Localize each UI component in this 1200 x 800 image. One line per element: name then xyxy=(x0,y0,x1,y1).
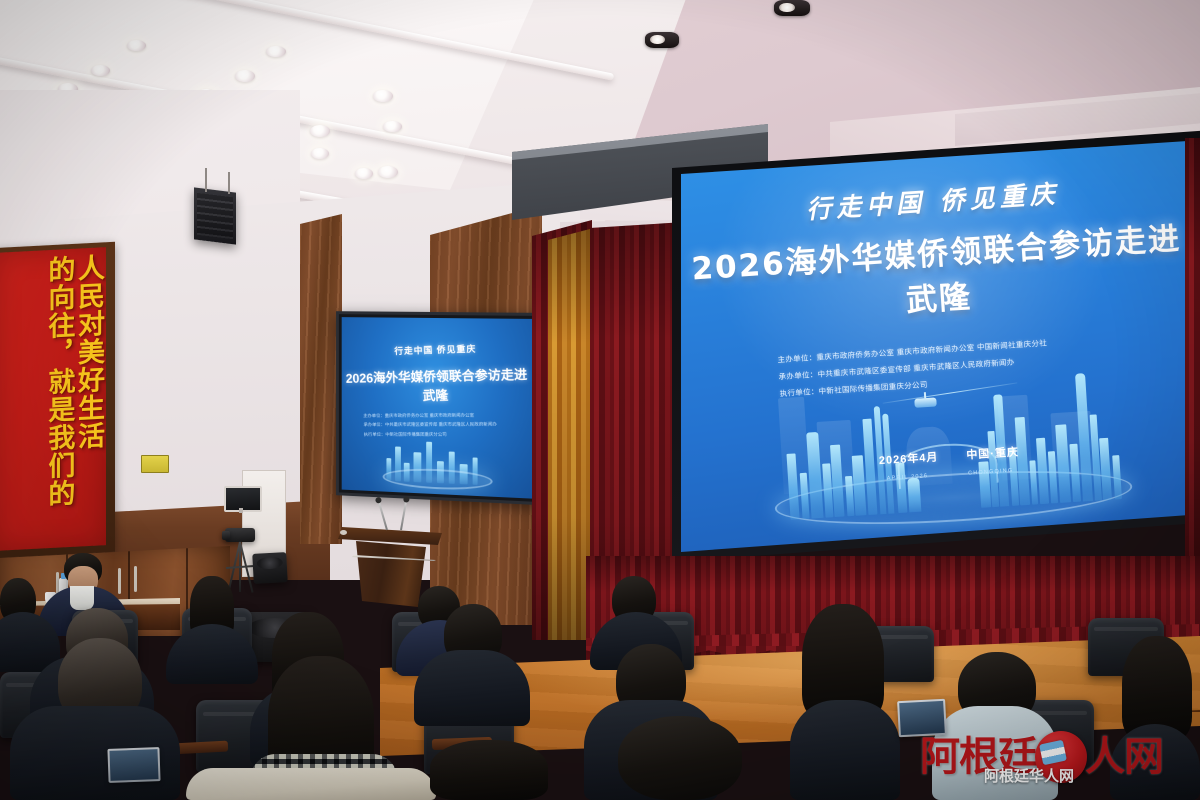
head-table-person-shirt xyxy=(70,586,94,610)
camera-lens-hood xyxy=(222,531,230,540)
ceiling-downlight xyxy=(378,166,398,178)
banner-column-2: 的向往，就是我们的 xyxy=(44,255,73,542)
no-smoking-sign xyxy=(141,455,169,473)
cable-car-icon xyxy=(914,397,937,407)
watermark-subtext: 阿根廷华人网 xyxy=(984,765,1074,786)
watermark-text-right: 人网 xyxy=(1085,737,1163,777)
audience-head-front xyxy=(430,740,548,800)
ceiling-spotlight-fixture xyxy=(774,0,810,16)
ceiling-downlight xyxy=(311,148,329,159)
argentina-flag-icon xyxy=(1039,740,1067,765)
ceiling-line-array-speaker xyxy=(194,187,236,244)
side-projection-screen: 行走中国 侨见重庆 2026海外华媒侨领联合参访走进武隆 主办单位：重庆市政府侨… xyxy=(336,311,538,505)
red-wall-banner: 人民对美好生活 的向往，就是我们的 xyxy=(0,247,106,551)
laptop[interactable] xyxy=(107,747,160,783)
side-screen-headline: 2026海外华媒侨领联合参访走进武隆 xyxy=(342,363,533,405)
ceiling-downlight xyxy=(355,168,373,179)
main-led-screen[interactable]: 行走中国 侨见重庆 2026海外华媒侨领联合参访走进武隆 主办单位：重庆市政府侨… xyxy=(681,140,1200,552)
ceiling-spotlight-fixture xyxy=(645,32,679,48)
audience-body xyxy=(414,650,530,726)
side-screen-skyline xyxy=(382,436,489,486)
ceiling-downlight xyxy=(91,65,110,76)
audience-body xyxy=(790,700,900,800)
ceiling-downlight xyxy=(310,125,330,137)
stage-curtain-red-right xyxy=(1185,138,1200,568)
conference-hall-photo: 人民对美好生活 的向往，就是我们的 行走中国 侨见重庆 2026海外华媒侨领联合… xyxy=(0,0,1200,800)
ceiling-downlight xyxy=(235,70,255,82)
screen-place-cn: 中国·重庆 xyxy=(966,443,1020,462)
audience-head-front xyxy=(618,716,742,800)
audience-body-front xyxy=(186,768,436,800)
site-watermark: 阿根廷 人网 阿根廷华人网 xyxy=(920,726,1192,788)
ceiling-downlight xyxy=(127,40,146,51)
ceiling-downlight xyxy=(373,90,393,102)
side-screen-credit-line: 承办单位：中共重庆市武隆区委宣传部 重庆市武隆区人民政府新闻办 xyxy=(364,420,498,430)
speaker-hanger xyxy=(228,172,230,194)
podium-emblem xyxy=(340,530,347,535)
floor-monitor-speaker xyxy=(252,552,288,584)
podium[interactable] xyxy=(356,541,426,607)
screen-skyline-graphic: 2026年4月中国·重庆 APRIL 2026CHONGQING xyxy=(682,338,1200,552)
speaker-hanger xyxy=(205,168,207,192)
ceiling-downlight xyxy=(266,46,286,57)
banner-column-1: 人民对美好生活 xyxy=(73,253,102,540)
wall-mounted-monitor xyxy=(224,486,262,512)
side-screen-slogan: 行走中国 侨见重庆 xyxy=(342,340,533,358)
ceiling-downlight xyxy=(383,121,402,132)
screen-headline: 2026海外华媒侨领联合参访走进武隆 xyxy=(681,212,1200,335)
monitor-stand xyxy=(239,508,243,513)
